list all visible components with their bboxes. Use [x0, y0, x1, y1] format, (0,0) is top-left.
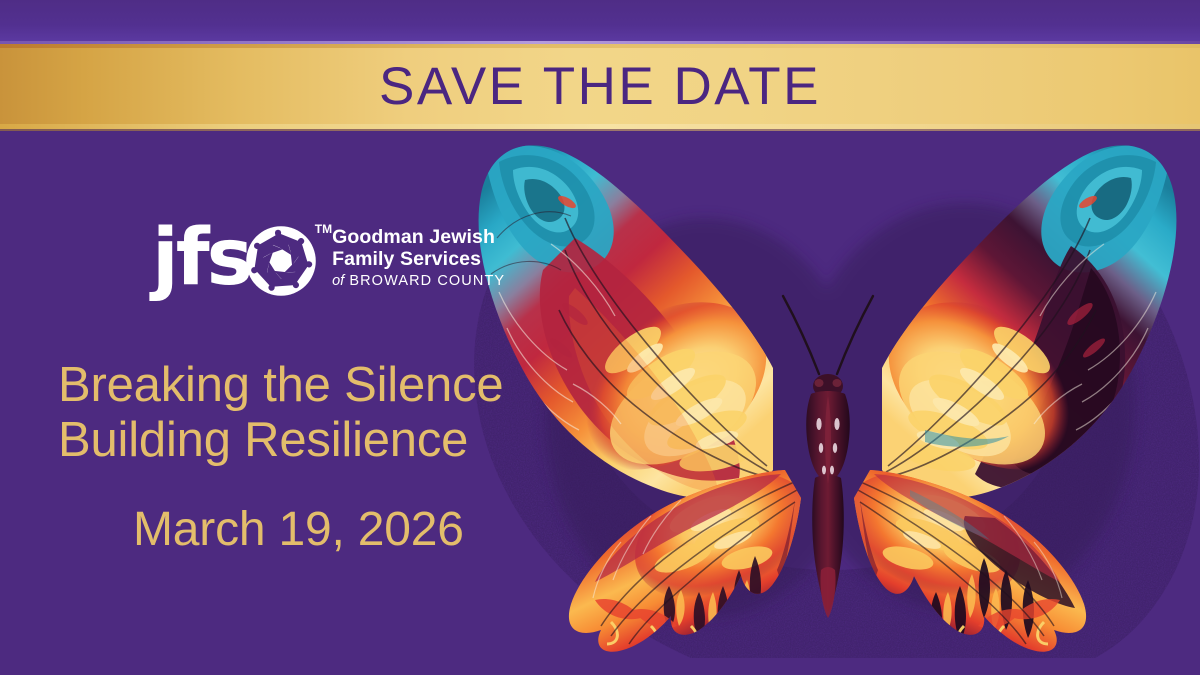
- org-line-2: Family Services: [332, 249, 505, 271]
- org-line-3: of BROWARD COUNTY: [332, 273, 505, 289]
- organization-name: Goodman Jewish Family Services of BROWAR…: [332, 227, 505, 289]
- top-purple-strip: [0, 0, 1200, 41]
- org-line-3-county: BROWARD COUNTY: [349, 273, 505, 289]
- org-line-3-prefix: of: [332, 273, 344, 289]
- jfs-network-circle-emblem: TM: [244, 224, 318, 298]
- event-headline: Breaking the Silence Building Resilience: [58, 358, 618, 468]
- event-date: March 19, 2026: [133, 502, 464, 557]
- trademark-symbol: TM: [315, 222, 332, 236]
- headline-line-1: Breaking the Silence: [58, 358, 503, 412]
- jfs-wordmark: jfs: [152, 228, 250, 289]
- banner-title: SAVE THE DATE: [0, 44, 1200, 129]
- save-the-date-poster: SAVE THE DATE: [0, 0, 1200, 675]
- headline-line-2: Building Resilience: [58, 413, 618, 468]
- org-line-1: Goodman Jewish: [332, 227, 505, 249]
- jfs-logo: jfs: [152, 218, 505, 298]
